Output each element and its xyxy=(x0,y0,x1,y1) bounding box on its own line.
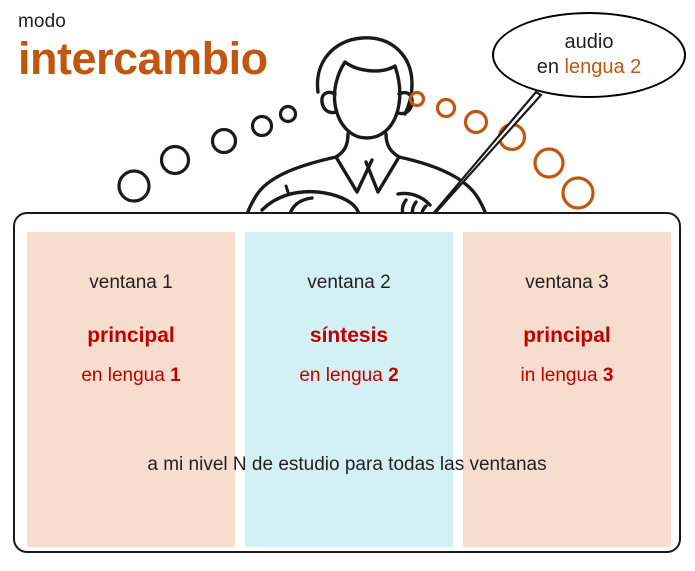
window-2-language-number: 2 xyxy=(388,365,399,386)
window-column-2[interactable]: ventana 2 síntesis en lengua 2 xyxy=(245,232,453,547)
header-block: modo intercambio xyxy=(18,12,348,82)
window-1-language: en lengua 1 xyxy=(27,365,235,387)
windows-columns-row: ventana 1 principal en lengua 1 ventana … xyxy=(27,232,671,547)
speech-bubble-highlight: lengua 2 xyxy=(565,56,642,78)
window-2-language: en lengua 2 xyxy=(245,365,453,387)
window-3-title: ventana 3 xyxy=(463,272,671,294)
speech-bubble: audio en lengua 2 xyxy=(492,12,686,98)
speech-bubble-prefix: en xyxy=(537,56,565,78)
window-2-title: ventana 2 xyxy=(245,272,453,294)
window-1-language-prefix: en lengua xyxy=(81,365,170,386)
window-2-mode: síntesis xyxy=(245,324,453,348)
window-column-1[interactable]: ventana 1 principal en lengua 1 xyxy=(27,232,235,547)
speech-bubble-tail xyxy=(404,92,541,225)
window-1-language-number: 1 xyxy=(170,365,181,386)
mode-label: modo xyxy=(18,12,348,33)
window-2-language-prefix: en lengua xyxy=(299,365,388,386)
window-column-3[interactable]: ventana 3 principal in lengua 3 xyxy=(463,232,671,547)
window-1-title: ventana 1 xyxy=(27,272,235,294)
window-3-mode: principal xyxy=(463,324,671,348)
speech-bubble-line-2: en lengua 2 xyxy=(537,55,642,80)
decorative-bubbles-left xyxy=(119,107,296,202)
windows-panel: ventana 1 principal en lengua 1 ventana … xyxy=(13,212,681,553)
decorative-bubbles-right xyxy=(411,93,594,209)
window-3-language-prefix: in lengua xyxy=(521,365,603,386)
mode-title: intercambio xyxy=(18,35,348,82)
window-3-language: in lengua 3 xyxy=(463,365,671,387)
window-3-language-number: 3 xyxy=(603,365,614,386)
speech-bubble-line-1: audio xyxy=(565,30,614,55)
window-1-mode: principal xyxy=(27,324,235,348)
